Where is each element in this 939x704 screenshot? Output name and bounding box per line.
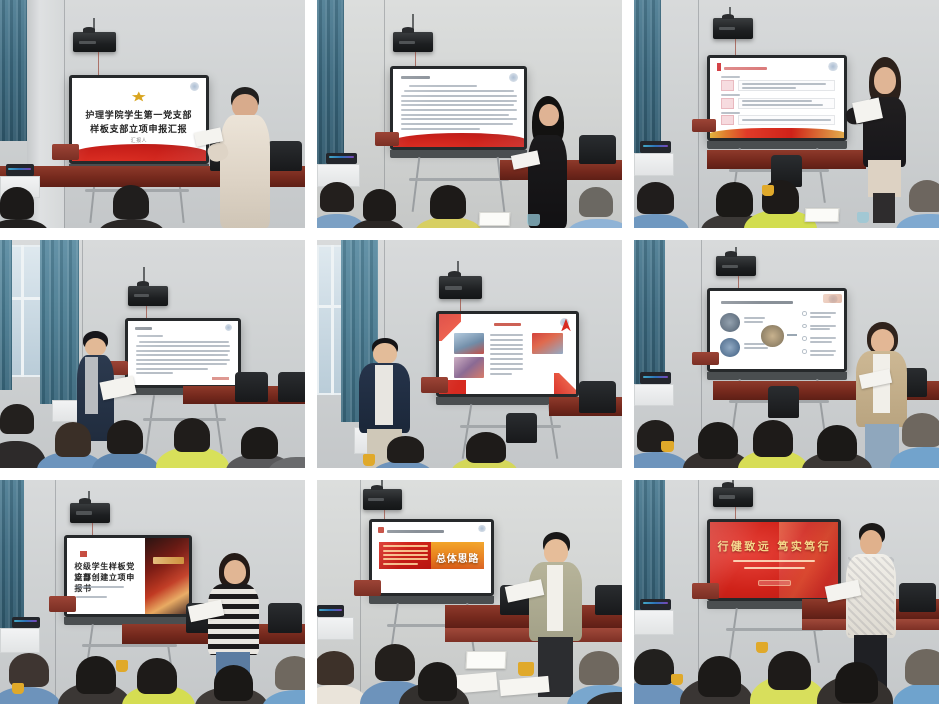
section-icon-box (721, 80, 734, 90)
audience-head (275, 656, 306, 690)
board-stand-bar (82, 644, 177, 647)
audience-head (637, 182, 674, 214)
section-body-box (738, 80, 835, 90)
slide-subheading (137, 335, 163, 337)
audience-head (905, 649, 939, 685)
slide-body-line (490, 348, 523, 350)
audience-head (375, 644, 415, 680)
chair (278, 372, 305, 402)
curtain (0, 0, 27, 141)
board-chin (707, 141, 847, 149)
slide-subtitle-line (733, 560, 815, 562)
slide-title-with-image: 校级学生样板党支部 培育创建立项申报书 (67, 538, 189, 614)
display-board-6[interactable] (707, 288, 847, 372)
party-emblem-icon (131, 91, 146, 102)
list-bullet (802, 324, 807, 329)
cabinet (317, 617, 354, 640)
chair (506, 413, 537, 443)
audience-head (55, 422, 92, 456)
room-scene-7: 校级学生样板党支部 培育创建立项申报书 (0, 480, 305, 704)
water-cup (857, 212, 869, 223)
chair (579, 381, 616, 413)
slide-red-title: 行健致远 笃实笃行 (710, 522, 838, 598)
slide-body-line (490, 334, 523, 336)
slide-body-line (401, 100, 517, 102)
audience-head (214, 665, 254, 701)
slide-body-line (139, 341, 229, 343)
section-icon-box (721, 115, 734, 125)
podium (421, 377, 448, 393)
projector-lens (722, 265, 738, 268)
audience-head (317, 651, 354, 685)
slide-title-line-2: 培育创建立项申报书 (74, 572, 140, 594)
audience-head (320, 182, 354, 212)
slide-body-line (136, 363, 227, 365)
board-screen: 校级学生样板党支部 培育创建立项申报书 (67, 538, 189, 614)
presenter-head (224, 560, 246, 584)
chair (268, 603, 302, 633)
diagram-label (744, 347, 768, 349)
presenter-skirt (868, 160, 901, 197)
slide-watermark-icon (190, 82, 199, 91)
list-line (810, 354, 834, 356)
presenter-3 (860, 57, 912, 223)
wifi-router (317, 605, 344, 616)
slide-sectioned-bullets (710, 58, 844, 139)
wifi-router (6, 164, 33, 175)
diagram-arrow (787, 334, 798, 336)
podium (52, 144, 79, 160)
projector (73, 32, 116, 53)
slide-body-line (490, 344, 523, 346)
collage-photo-7[interactable]: 校级学生样板党支部 培育创建立项申报书 (0, 480, 305, 704)
projector-lens (399, 41, 415, 44)
board-screen (128, 321, 238, 386)
slide-title-line-2: 样板支部立项申报汇报 (72, 122, 206, 135)
water-cup (756, 642, 768, 653)
slide-body-line (490, 358, 523, 360)
section-label (721, 112, 740, 114)
slide-body-line (401, 128, 480, 130)
slide-body-line (401, 118, 517, 120)
wall-seam (698, 0, 699, 228)
room-scene-4 (0, 240, 305, 468)
slide-badge (758, 580, 791, 587)
slide-subtitle-line (76, 596, 108, 598)
slide-title: 护理学院学生第一党支部 样板支部立项申报汇报 汇报人 (72, 78, 206, 161)
chair (899, 583, 936, 613)
projector (393, 32, 433, 53)
collage-photo-9[interactable]: 行健致远 笃实笃行 (634, 480, 939, 704)
room-scene-2 (317, 0, 622, 228)
audience-head (430, 185, 467, 219)
presenter-head (539, 104, 559, 126)
slide-corner-graphic (823, 294, 842, 303)
audience-head (698, 656, 741, 697)
audience-head (0, 187, 34, 219)
projector-lens (445, 286, 462, 290)
audience-head (76, 656, 116, 695)
board-screen (710, 291, 844, 369)
audience-head (418, 662, 458, 701)
slide-body-line (490, 339, 523, 341)
slide-heading (135, 327, 153, 330)
projector-lens (76, 511, 92, 514)
water-cup (363, 454, 375, 465)
room-scene-3 (634, 0, 939, 228)
slide-mini-emblem (80, 551, 86, 557)
chair (768, 386, 799, 418)
slide-photo-accent (153, 557, 185, 564)
collage-photo-8[interactable]: 总体思路 (317, 480, 622, 704)
audience-head (0, 404, 34, 434)
presenter-shirt (547, 565, 563, 631)
slide-body-line (136, 350, 231, 352)
display-board-5[interactable] (436, 311, 579, 398)
room-scene-8: 总体思路 (317, 480, 622, 704)
section-icon-box (721, 98, 734, 108)
collage-photo-4[interactable] (0, 240, 305, 468)
slide-body-line (490, 353, 523, 355)
display-board-3[interactable] (707, 55, 847, 142)
wifi-router (640, 141, 671, 152)
wifi-router (326, 153, 357, 164)
curtain (634, 0, 661, 155)
room-scene-6 (634, 240, 939, 468)
audience-head (241, 427, 278, 459)
collage-photo-2[interactable] (317, 0, 622, 228)
presenter-head (85, 338, 106, 357)
banner-line (383, 554, 428, 556)
audience-head (753, 420, 793, 456)
audience-head (768, 651, 811, 690)
projector-lens (719, 495, 735, 498)
board-screen: 总体思路 (372, 522, 491, 594)
cabinet (0, 628, 40, 653)
chair (235, 372, 269, 402)
slide-body-line (401, 109, 517, 111)
projector (713, 487, 753, 508)
collage-photo-3[interactable] (634, 0, 939, 228)
projector (70, 503, 110, 524)
slide-body-line (490, 368, 523, 370)
room-scene-5 (317, 240, 622, 468)
slide-body-line (401, 104, 514, 106)
list-bullet (802, 311, 807, 316)
slide-heading (401, 76, 430, 79)
display-board-9[interactable]: 行健致远 笃实笃行 (707, 519, 841, 601)
audience-head (387, 436, 424, 463)
projector (363, 489, 403, 510)
projector-lens (368, 498, 384, 501)
wifi-router (12, 617, 39, 628)
list-bullet (802, 336, 807, 341)
cabinet (634, 610, 674, 635)
slide-red-wave (72, 144, 206, 161)
podium (375, 132, 399, 146)
slide-body-line (136, 354, 228, 356)
photo-collage-grid: 护理学院学生第一党支部 样板支部立项申报汇报 汇报人 (0, 0, 939, 704)
slide-title-line-1: 护理学院学生第一党支部 (72, 108, 206, 121)
board-screen (710, 58, 844, 139)
board-chin (390, 150, 527, 158)
slide-watermark-icon (509, 73, 518, 82)
slide-header-text (387, 530, 444, 533)
podium (49, 596, 76, 612)
slide-banner-text: 总体思路 (431, 550, 483, 565)
curtain (0, 240, 12, 390)
collage-photo-1[interactable]: 护理学院学生第一党支部 样板支部立项申报汇报 汇报人 (0, 0, 305, 228)
audience-head (817, 425, 857, 461)
audience-head (835, 662, 878, 703)
audience-head (579, 651, 619, 685)
list-line (810, 341, 833, 343)
slide-watermark-icon (478, 525, 486, 533)
presenter-body (220, 115, 270, 228)
slide-red-wave (393, 133, 524, 147)
projector-lens (719, 27, 735, 30)
list-bullet (802, 349, 807, 354)
board-screen: 护理学院学生第一党支部 样板支部立项申报汇报 汇报人 (72, 78, 206, 161)
bullet-line (742, 87, 796, 89)
diagram-label (744, 321, 763, 323)
water-cup (518, 662, 533, 676)
banner-line (383, 550, 428, 552)
wifi-router (640, 372, 671, 383)
slide-header-bar (717, 63, 721, 70)
slide-body-line (490, 363, 523, 365)
bullet-line (742, 83, 825, 85)
nameplate (466, 651, 507, 669)
board-stand-bar (409, 178, 510, 181)
slide-banner: 总体思路 (372, 522, 491, 594)
nameplate (804, 208, 838, 222)
audience-head (579, 187, 613, 217)
slide-photo-right (145, 538, 189, 614)
audience-head (634, 649, 674, 685)
audience-head (174, 418, 211, 452)
slide-body-line (490, 373, 512, 375)
slide-body-line (136, 359, 231, 361)
slide-body-line (401, 114, 509, 116)
slide-thumbnail (454, 357, 484, 378)
chair (579, 135, 616, 165)
display-board-8[interactable]: 总体思路 (369, 519, 494, 597)
presenter-8 (527, 532, 585, 696)
water-cup (12, 683, 24, 694)
slide-corner-red-br (554, 373, 576, 394)
presenter-head (544, 539, 568, 564)
wall-seam (55, 480, 56, 704)
curtain (0, 480, 24, 630)
nameplate (478, 212, 509, 226)
wall-seam (64, 0, 65, 228)
presenter-shirt (375, 365, 392, 425)
bullet-line (742, 119, 831, 121)
banner-line (383, 563, 419, 565)
audience-head (902, 413, 939, 447)
slide-heading (724, 67, 767, 70)
slide-text-document (393, 69, 524, 147)
display-board-1[interactable]: 护理学院学生第一党支部 样板支部立项申报汇报 汇报人 (69, 75, 209, 164)
list-line (810, 325, 837, 327)
room-scene-1: 护理学院学生第一党支部 样板支部立项申报汇报 汇报人 (0, 0, 305, 228)
audience-head (363, 189, 397, 221)
water-cup (671, 674, 683, 685)
slide-watermark-icon (828, 62, 837, 71)
podium (692, 119, 716, 133)
slide-text-document (128, 321, 238, 386)
presenter-body (208, 584, 258, 655)
presenter-shirt (85, 357, 98, 414)
presenter-1 (214, 87, 281, 228)
section-label (721, 94, 740, 96)
presenter-6 (854, 322, 912, 468)
display-board-7[interactable]: 校级学生样板党支部 培育创建立项申报书 (64, 535, 192, 617)
slide-body-line (136, 368, 209, 370)
diagram-circle (720, 338, 740, 357)
audience-head (466, 432, 506, 464)
slide-subtitle-line (744, 567, 806, 569)
presenter-head (860, 530, 882, 555)
podium (354, 580, 381, 596)
slide-subheading (409, 85, 477, 87)
chair (595, 585, 622, 615)
podium (692, 583, 719, 599)
audience-head (107, 420, 144, 454)
diagram-circle (720, 313, 740, 332)
banner-line (383, 558, 428, 560)
diagram-label (744, 343, 765, 345)
board-screen: 行健致远 笃实笃行 (710, 522, 838, 598)
projector (713, 18, 753, 39)
projector-cable (98, 52, 99, 77)
podium (692, 352, 719, 366)
presenter-legs (873, 193, 895, 223)
cabinet (634, 153, 674, 176)
board-screen (393, 69, 524, 147)
audience-head (909, 180, 939, 212)
slide-heading (721, 301, 794, 304)
projector-lens (134, 294, 150, 297)
list-line (810, 328, 830, 330)
slide-body-line (136, 372, 173, 374)
slide-watermark-icon (225, 324, 233, 331)
slide-body-line (401, 123, 513, 125)
list-line (810, 312, 837, 314)
projector (716, 256, 756, 277)
cabinet (634, 384, 674, 407)
audience-head (113, 185, 150, 219)
slide-photos-and-text (439, 314, 576, 395)
projector (439, 276, 482, 299)
water-cup (527, 214, 539, 225)
slide-body-line (136, 345, 231, 347)
slide-body-line (401, 95, 517, 97)
water-cup (762, 185, 774, 196)
collage-photo-5[interactable] (317, 240, 622, 468)
slide-diagram (710, 291, 844, 369)
slide-thumbnail (454, 333, 484, 354)
section-label (721, 76, 740, 78)
wifi-router (640, 599, 671, 610)
slide-gold-red-wave (710, 128, 844, 138)
slide-thumbnail (532, 333, 562, 354)
slide-calligraphy: 行健致远 笃实笃行 (710, 538, 838, 554)
presenter-head (373, 343, 396, 364)
slide-body-line (404, 90, 514, 92)
curtain (317, 0, 344, 164)
display-board-4[interactable] (125, 318, 241, 389)
audience-head (716, 182, 753, 216)
board-chin (369, 596, 494, 604)
projector (128, 286, 168, 307)
collage-photo-6[interactable] (634, 240, 939, 468)
board-screen (439, 314, 576, 395)
slide-mini-emblem (378, 527, 384, 533)
water-cup (661, 441, 673, 452)
water-cup (116, 660, 128, 671)
board-chin (707, 372, 847, 380)
display-board-2[interactable] (390, 66, 527, 150)
projector-lens (79, 41, 96, 44)
audience-head (137, 658, 177, 694)
list-line (810, 337, 837, 339)
audience-head (698, 422, 738, 458)
slide-heading (494, 323, 521, 326)
slide-page-dots (212, 377, 230, 380)
list-line (810, 350, 837, 352)
diagram-label (744, 317, 765, 319)
presenter-head (871, 329, 894, 352)
room-scene-9: 行健致远 笃实笃行 (634, 480, 939, 704)
presenter-head (874, 67, 896, 94)
list-line (810, 316, 831, 318)
